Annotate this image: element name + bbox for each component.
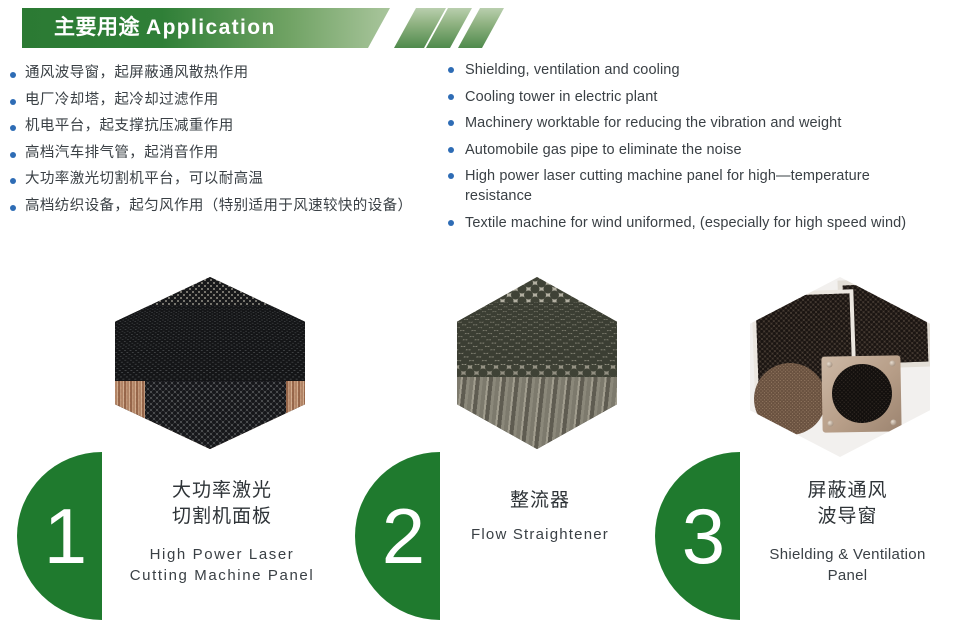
product-title-cn-line1: 整流器 — [430, 488, 650, 514]
list-item-label: 高档汽车排气管，起消音作用 — [25, 144, 219, 163]
application-list-en: Shielding, ventilation and cooling Cooli… — [448, 60, 948, 239]
screw-icon — [827, 421, 833, 427]
product-title-en-1: High Power Laser Cutting Machine Panel — [108, 544, 336, 586]
product-photo-3 — [750, 277, 930, 457]
product-number-badge-3: 3 — [655, 452, 740, 620]
honeycomb-cells-top — [115, 305, 305, 380]
list-item: High power laser cutting machine panel f… — [448, 166, 948, 206]
bullet-dot-icon — [10, 99, 16, 105]
product-number-2: 2 — [355, 452, 440, 620]
product-number-badge-1: 1 — [17, 452, 102, 620]
waveguide-round-filter — [754, 363, 826, 435]
list-item-label: Machinery worktable for reducing the vib… — [465, 113, 841, 133]
list-item-label: Cooling tower in electric plant — [465, 87, 658, 107]
product-number-3: 3 — [655, 452, 740, 620]
page-title-cn: 主要用途 — [54, 16, 140, 39]
bullet-dot-icon — [10, 125, 16, 131]
list-item-label: Automobile gas pipe to eliminate the noi… — [465, 140, 742, 160]
product-title-en-line1: High Power Laser — [108, 544, 336, 565]
product-title-cn-line2: 波导窗 — [745, 504, 950, 530]
product-title-cn-2: 整流器 — [430, 488, 650, 514]
product-title-cn-line1: 大功率激光 — [108, 478, 336, 504]
bullet-dot-icon — [10, 72, 16, 78]
list-item-label: High power laser cutting machine panel f… — [465, 166, 935, 206]
product-caption-1: 大功率激光 切割机面板 High Power Laser Cutting Mac… — [108, 478, 336, 586]
waveguide-framed-filter — [821, 356, 901, 433]
screw-icon — [891, 420, 897, 426]
screw-icon — [826, 362, 832, 368]
list-item: Textile machine for wind uniformed, (esp… — [448, 213, 948, 233]
bullet-dot-icon — [10, 152, 16, 158]
waveguide-panel-rear — [842, 283, 928, 365]
list-item-label: Textile machine for wind uniformed, (esp… — [465, 213, 906, 233]
bullet-dot-icon — [448, 94, 454, 100]
list-item-label: 通风波导窗，起屏蔽通风散热作用 — [25, 64, 249, 83]
product-photo-2 — [457, 277, 617, 449]
honeycomb-block-olive-coarse — [457, 277, 617, 449]
bullet-dot-icon — [448, 220, 454, 226]
bullet-dot-icon — [448, 173, 454, 179]
page-title: 主要用途Application — [54, 8, 276, 48]
list-item: Cooling tower in electric plant — [448, 87, 948, 107]
list-item-label: 电厂冷却塔，起冷却过滤作用 — [25, 91, 219, 110]
product-title-en-2: Flow Straightener — [430, 524, 650, 545]
list-item: 大功率激光切割机平台，可以耐高温 — [10, 170, 440, 189]
honeycomb-side-wall — [457, 377, 617, 449]
bullet-dot-icon — [10, 205, 16, 211]
page-title-en: Application — [146, 16, 276, 39]
product-number-1: 1 — [17, 452, 102, 620]
bullet-dot-icon — [10, 178, 16, 184]
waveguide-circular-mesh — [831, 364, 892, 424]
product-title-en-line2: Cutting Machine Panel — [108, 565, 336, 586]
product-title-en-3: Shielding & Ventilation Panel — [745, 544, 950, 586]
list-item: 电厂冷却塔，起冷却过滤作用 — [10, 91, 440, 110]
list-item: 通风波导窗，起屏蔽通风散热作用 — [10, 64, 440, 83]
list-item: 高档纺织设备，起匀风作用（特别适用于风速较快的设备） — [10, 197, 440, 216]
waveguide-shielding-panels — [750, 277, 930, 457]
bullet-dot-icon — [448, 147, 454, 153]
list-item: Automobile gas pipe to eliminate the noi… — [448, 140, 948, 160]
list-item: Machinery worktable for reducing the vib… — [448, 113, 948, 133]
honeycomb-cells-front — [145, 377, 286, 449]
list-item-label: 机电平台，起支撑抗压减重作用 — [25, 117, 234, 136]
product-caption-3: 屏蔽通风 波导窗 Shielding & Ventilation Panel — [745, 478, 950, 586]
screw-icon — [890, 361, 896, 367]
list-item-label: 高档纺织设备，起匀风作用（特别适用于风速较快的设备） — [25, 197, 412, 216]
bullet-dot-icon — [448, 67, 454, 73]
product-title-en-line1: Shielding & Ventilation — [745, 544, 950, 565]
product-title-cn-line2: 切割机面板 — [108, 504, 336, 530]
product-title-en-line2: Panel — [745, 565, 950, 586]
list-item: 高档汽车排气管，起消音作用 — [10, 144, 440, 163]
product-title-cn-line1: 屏蔽通风 — [745, 478, 950, 504]
honeycomb-cells-top — [457, 302, 617, 364]
product-photo-1 — [115, 277, 305, 449]
product-title-en-line1: Flow Straightener — [430, 524, 650, 545]
application-list-cn: 通风波导窗，起屏蔽通风散热作用 电厂冷却塔，起冷却过滤作用 机电平台，起支撑抗压… — [10, 64, 440, 223]
list-item: Shielding, ventilation and cooling — [448, 60, 948, 80]
product-title-cn-1: 大功率激光 切割机面板 — [108, 478, 336, 530]
section-header-banner: 主要用途Application — [22, 8, 932, 48]
product-caption-2: 整流器 Flow Straightener — [430, 488, 650, 545]
product-title-cn-3: 屏蔽通风 波导窗 — [745, 478, 950, 530]
list-item-label: 大功率激光切割机平台，可以耐高温 — [25, 170, 263, 189]
list-item: 机电平台，起支撑抗压减重作用 — [10, 117, 440, 136]
list-item-label: Shielding, ventilation and cooling — [465, 60, 680, 80]
product-number-badge-2: 2 — [355, 452, 440, 620]
bullet-dot-icon — [448, 120, 454, 126]
honeycomb-block-dark-fine — [115, 277, 305, 449]
